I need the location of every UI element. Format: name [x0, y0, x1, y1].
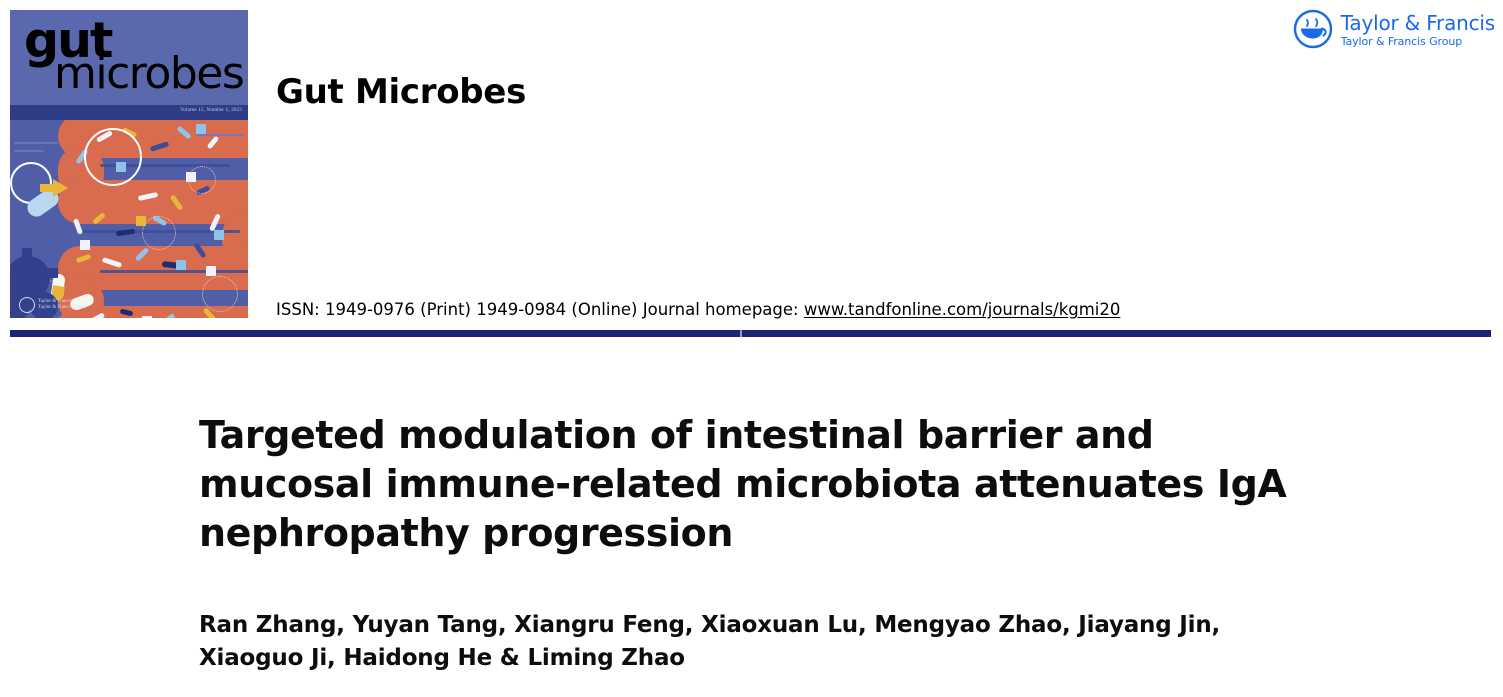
gut-inner-line [100, 270, 248, 273]
publisher-logo[interactable]: Taylor & Francis Taylor & Francis Group [1292, 8, 1495, 50]
issn-homepage-line: ISSN: 1949-0976 (Print) 1949-0984 (Onlin… [276, 300, 1120, 320]
network-line [196, 134, 244, 136]
cover-illustration [10, 120, 248, 318]
issn-text: ISSN: 1949-0976 (Print) 1949-0984 (Onlin… [276, 300, 804, 319]
cover-masthead: gut microbes [10, 10, 248, 105]
publisher-name-block: Taylor & Francis Taylor & Francis Group [1341, 10, 1495, 49]
cover-publisher-logo: Taylor & Francis Taylor & Francis Group [19, 297, 86, 313]
antibody-icon [176, 260, 186, 270]
cover-volume-band: Volume 15, Number 1, 2023 [10, 105, 248, 120]
publisher-name: Taylor & Francis [1341, 12, 1495, 35]
network-line [14, 142, 58, 144]
journal-name: Gut Microbes [276, 72, 526, 112]
arrow-icon [40, 184, 53, 192]
network-line [14, 150, 44, 152]
bacteria-rod [116, 229, 136, 237]
article-authors: Ran Zhang, Yuyan Tang, Xiangru Feng, Xia… [199, 609, 1319, 675]
header-divider-seam [740, 330, 742, 337]
journal-homepage-link[interactable]: www.tandfonline.com/journals/kgmi20 [804, 300, 1121, 319]
antibody-icon [206, 266, 216, 276]
antibody-icon [214, 230, 224, 240]
journal-cover-image[interactable]: gut microbes Volume 15, Number 1, 2023 T… [10, 10, 248, 318]
article-title: Targeted modulation of intestinal barrie… [199, 411, 1299, 558]
highlight-circle [142, 216, 176, 250]
antibody-icon [142, 316, 152, 318]
publisher-group: Taylor & Francis Group [1341, 35, 1495, 49]
antibody-icon [196, 124, 206, 134]
taylor-francis-bowl-icon [1292, 8, 1334, 50]
taylor-francis-bowl-icon [19, 297, 35, 313]
magnifier-circle [84, 128, 142, 186]
header-divider [10, 330, 1491, 337]
cover-title-microbes: microbes [54, 52, 243, 96]
cover-volume-text: Volume 15, Number 1, 2023 [180, 108, 242, 113]
journal-header: gut microbes Volume 15, Number 1, 2023 T… [0, 0, 1503, 338]
cover-imprint-group: Taylor & Francis Group [38, 305, 86, 311]
highlight-circle [202, 276, 238, 312]
arrow-icon [53, 179, 68, 197]
highlight-circle [188, 166, 216, 194]
